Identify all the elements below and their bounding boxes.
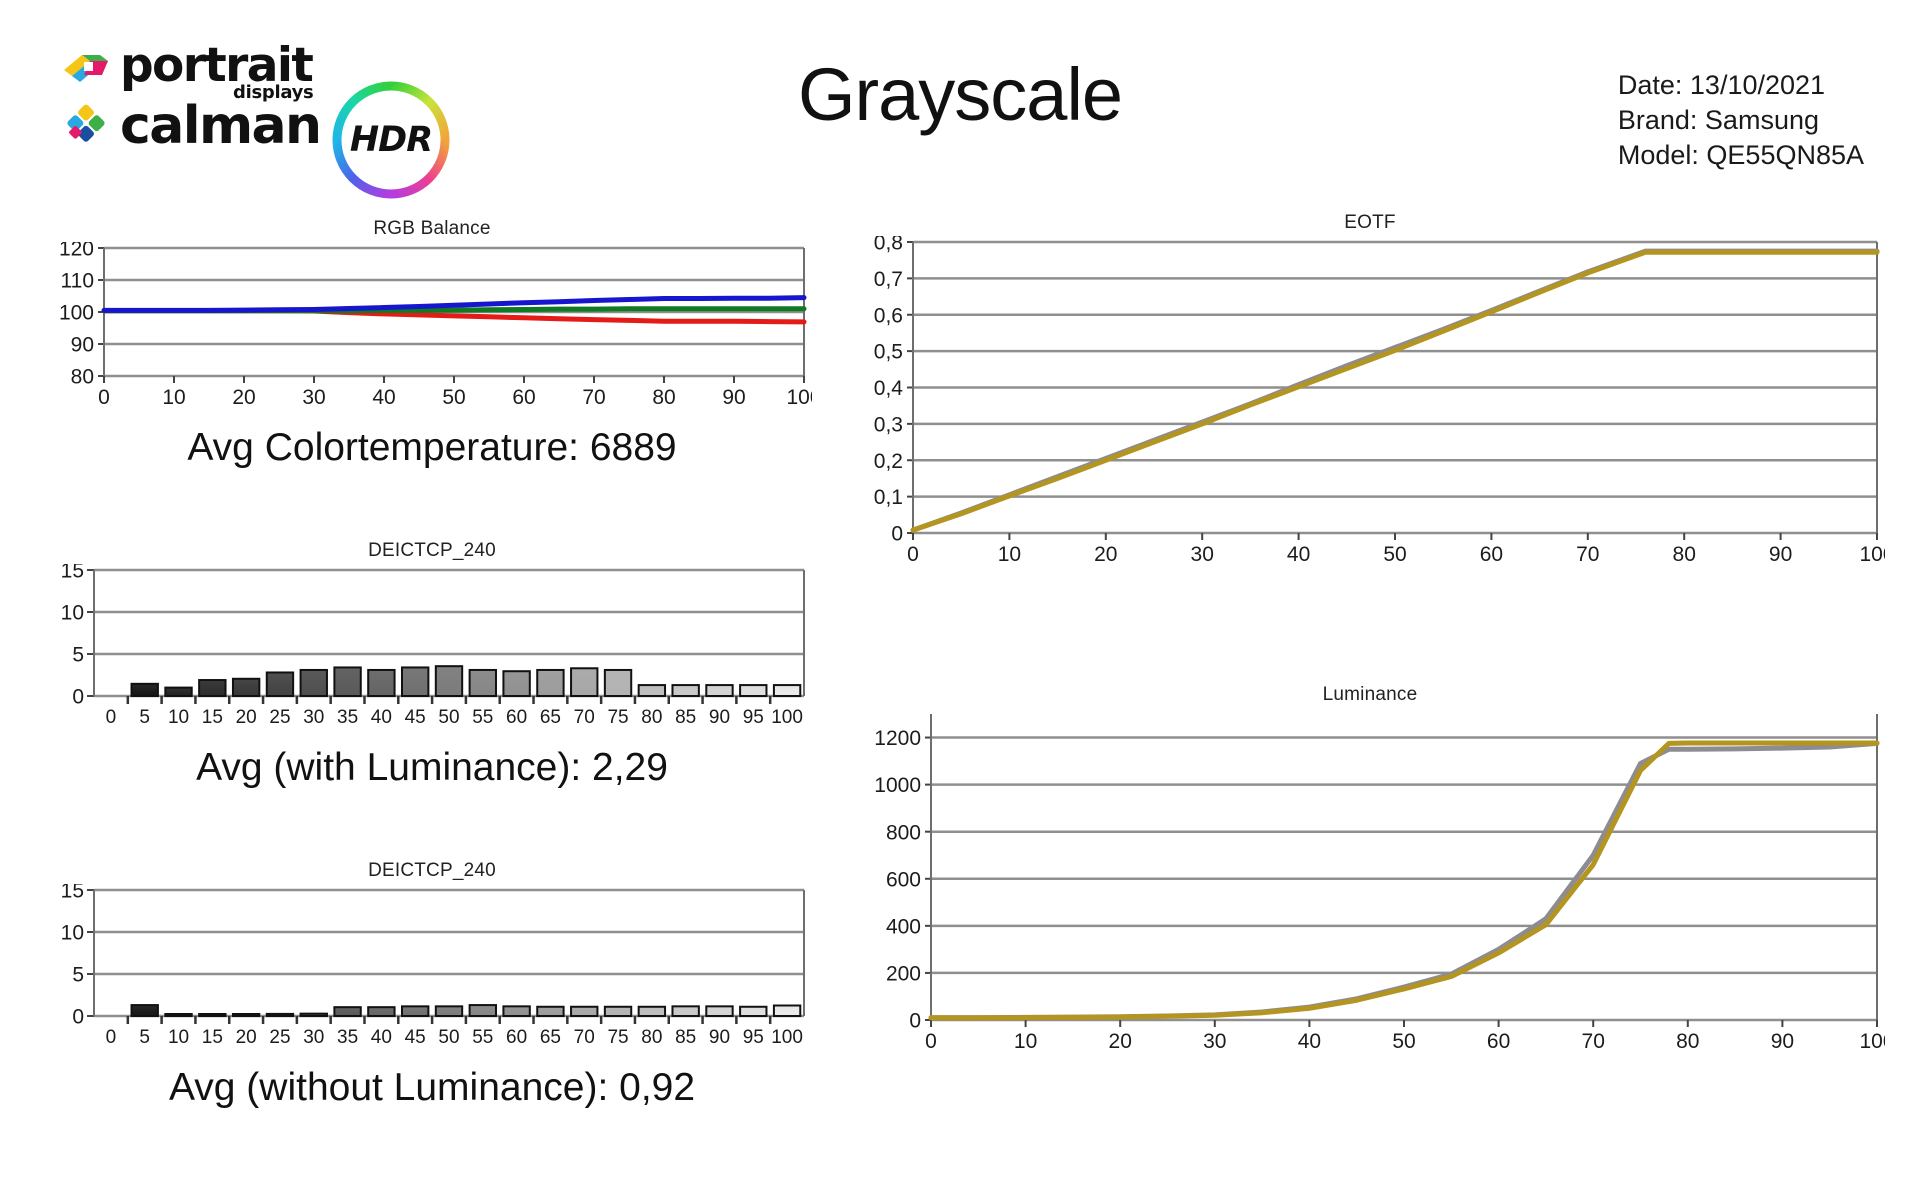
svg-text:0,3: 0,3 bbox=[874, 413, 903, 436]
svg-text:110: 110 bbox=[61, 270, 94, 293]
svg-text:100: 100 bbox=[786, 386, 812, 409]
svg-text:65: 65 bbox=[540, 1027, 561, 1048]
svg-text:20: 20 bbox=[236, 707, 257, 728]
svg-text:0: 0 bbox=[909, 1010, 921, 1033]
svg-text:90: 90 bbox=[722, 386, 745, 409]
svg-text:10: 10 bbox=[162, 386, 185, 409]
svg-text:30: 30 bbox=[303, 1027, 324, 1048]
deictcp-without-luminance-panel: DEICTCP_240 0510150510152025303540455055… bbox=[52, 860, 812, 1110]
svg-text:100: 100 bbox=[771, 1027, 803, 1048]
svg-text:100: 100 bbox=[59, 302, 94, 325]
svg-text:0,7: 0,7 bbox=[874, 268, 903, 291]
svg-text:15: 15 bbox=[61, 884, 84, 903]
svg-text:800: 800 bbox=[886, 821, 921, 844]
svg-text:45: 45 bbox=[405, 1027, 426, 1048]
svg-text:50: 50 bbox=[1392, 1030, 1415, 1053]
svg-text:50: 50 bbox=[438, 1027, 459, 1048]
svg-text:20: 20 bbox=[1094, 543, 1117, 566]
report-metadata: Date: 13/10/2021 Brand: Samsung Model: Q… bbox=[1618, 68, 1864, 173]
svg-text:15: 15 bbox=[202, 707, 223, 728]
eotf-chart: 00,10,20,30,40,50,60,70,8010203040506070… bbox=[855, 236, 1885, 571]
meta-model: Model: QE55QN85A bbox=[1618, 138, 1864, 173]
meta-date: Date: 13/10/2021 bbox=[1618, 68, 1864, 103]
eotf-title: EOTF bbox=[855, 212, 1885, 234]
svg-text:75: 75 bbox=[607, 707, 628, 728]
deictcp-with-luminance-chart: 0510150510152025303540455055606570758085… bbox=[52, 564, 812, 732]
svg-text:15: 15 bbox=[61, 564, 84, 583]
svg-text:90: 90 bbox=[1771, 1030, 1794, 1053]
svg-text:30: 30 bbox=[303, 707, 324, 728]
meta-brand: Brand: Samsung bbox=[1618, 103, 1864, 138]
svg-text:80: 80 bbox=[1676, 1030, 1699, 1053]
svg-text:40: 40 bbox=[372, 386, 395, 409]
svg-text:200: 200 bbox=[886, 962, 921, 985]
svg-text:50: 50 bbox=[438, 707, 459, 728]
svg-text:0,6: 0,6 bbox=[874, 304, 903, 327]
svg-text:0: 0 bbox=[72, 1006, 84, 1029]
svg-text:55: 55 bbox=[472, 1027, 493, 1048]
svg-text:45: 45 bbox=[405, 707, 426, 728]
svg-text:1000: 1000 bbox=[874, 774, 921, 797]
svg-text:0: 0 bbox=[106, 1027, 117, 1048]
svg-text:0: 0 bbox=[891, 523, 903, 546]
svg-text:75: 75 bbox=[607, 1027, 628, 1048]
svg-text:90: 90 bbox=[71, 334, 94, 357]
rgb-balance-chart: 80901001101200102030405060708090100 bbox=[52, 242, 812, 410]
svg-text:85: 85 bbox=[675, 707, 696, 728]
svg-text:5: 5 bbox=[72, 644, 84, 667]
svg-text:400: 400 bbox=[886, 915, 921, 938]
svg-text:80: 80 bbox=[71, 366, 94, 389]
svg-text:10: 10 bbox=[61, 922, 84, 945]
svg-text:60: 60 bbox=[1487, 1030, 1510, 1053]
svg-text:25: 25 bbox=[269, 1027, 290, 1048]
svg-text:90: 90 bbox=[709, 1027, 730, 1048]
svg-text:70: 70 bbox=[582, 386, 605, 409]
svg-text:60: 60 bbox=[512, 386, 535, 409]
svg-text:55: 55 bbox=[472, 707, 493, 728]
svg-text:70: 70 bbox=[1582, 1030, 1605, 1053]
svg-text:95: 95 bbox=[743, 1027, 764, 1048]
svg-text:60: 60 bbox=[1480, 543, 1503, 566]
svg-text:65: 65 bbox=[540, 707, 561, 728]
svg-text:0: 0 bbox=[106, 707, 117, 728]
deictcp-with-luminance-panel: DEICTCP_240 0510150510152025303540455055… bbox=[52, 540, 812, 790]
rgb-balance-title: RGB Balance bbox=[52, 218, 812, 240]
svg-text:600: 600 bbox=[886, 868, 921, 891]
svg-text:0,4: 0,4 bbox=[874, 377, 904, 400]
svg-text:40: 40 bbox=[371, 707, 392, 728]
svg-text:70: 70 bbox=[574, 707, 595, 728]
rgb-balance-panel: RGB Balance 8090100110120010203040506070… bbox=[52, 218, 812, 470]
svg-text:0,2: 0,2 bbox=[874, 450, 903, 473]
svg-text:50: 50 bbox=[442, 386, 465, 409]
svg-text:0: 0 bbox=[907, 543, 919, 566]
svg-text:120: 120 bbox=[59, 242, 94, 261]
svg-text:0: 0 bbox=[925, 1030, 937, 1053]
svg-text:85: 85 bbox=[675, 1027, 696, 1048]
svg-text:90: 90 bbox=[1769, 543, 1792, 566]
svg-text:35: 35 bbox=[337, 1027, 358, 1048]
svg-text:80: 80 bbox=[652, 386, 675, 409]
svg-text:35: 35 bbox=[337, 707, 358, 728]
svg-text:90: 90 bbox=[709, 707, 730, 728]
svg-text:5: 5 bbox=[139, 1027, 150, 1048]
svg-text:80: 80 bbox=[641, 1027, 662, 1048]
svg-text:100: 100 bbox=[771, 707, 803, 728]
svg-text:70: 70 bbox=[574, 1027, 595, 1048]
svg-text:60: 60 bbox=[506, 707, 527, 728]
svg-text:10: 10 bbox=[168, 707, 189, 728]
svg-text:0,8: 0,8 bbox=[874, 236, 903, 255]
avg-without-luminance-caption: Avg (without Luminance): 0,92 bbox=[52, 1066, 812, 1110]
svg-text:70: 70 bbox=[1576, 543, 1599, 566]
avg-with-luminance-caption: Avg (with Luminance): 2,29 bbox=[52, 746, 812, 790]
svg-text:80: 80 bbox=[641, 707, 662, 728]
svg-text:10: 10 bbox=[61, 602, 84, 625]
svg-text:40: 40 bbox=[371, 1027, 392, 1048]
svg-text:10: 10 bbox=[1014, 1030, 1037, 1053]
svg-text:1200: 1200 bbox=[874, 727, 921, 750]
svg-text:25: 25 bbox=[269, 707, 290, 728]
luminance-panel: Luminance 020040060080010001200010203040… bbox=[855, 684, 1885, 1058]
svg-text:95: 95 bbox=[743, 707, 764, 728]
report-page: portrait displays calman bbox=[0, 0, 1920, 1200]
deictcp-without-luminance-title: DEICTCP_240 bbox=[52, 860, 812, 882]
svg-text:20: 20 bbox=[1109, 1030, 1132, 1053]
svg-text:30: 30 bbox=[1191, 543, 1214, 566]
svg-text:20: 20 bbox=[232, 386, 255, 409]
svg-text:50: 50 bbox=[1383, 543, 1406, 566]
svg-text:30: 30 bbox=[1203, 1030, 1226, 1053]
svg-text:10: 10 bbox=[168, 1027, 189, 1048]
svg-text:100: 100 bbox=[1859, 1030, 1885, 1053]
luminance-title: Luminance bbox=[855, 684, 1885, 706]
svg-text:100: 100 bbox=[1859, 543, 1885, 566]
svg-text:30: 30 bbox=[302, 386, 325, 409]
svg-text:0: 0 bbox=[98, 386, 110, 409]
svg-text:5: 5 bbox=[72, 964, 84, 987]
svg-text:40: 40 bbox=[1298, 1030, 1321, 1053]
deictcp-without-luminance-chart: 0510150510152025303540455055606570758085… bbox=[52, 884, 812, 1052]
svg-text:5: 5 bbox=[139, 707, 150, 728]
svg-text:40: 40 bbox=[1287, 543, 1310, 566]
avg-colortemperature-caption: Avg Colortemperature: 6889 bbox=[52, 426, 812, 470]
eotf-panel: EOTF 00,10,20,30,40,50,60,70,80102030405… bbox=[855, 212, 1885, 571]
svg-text:80: 80 bbox=[1673, 543, 1696, 566]
deictcp-with-luminance-title: DEICTCP_240 bbox=[52, 540, 812, 562]
svg-text:0: 0 bbox=[72, 686, 84, 709]
svg-text:0,5: 0,5 bbox=[874, 341, 903, 364]
svg-text:10: 10 bbox=[998, 543, 1021, 566]
svg-text:60: 60 bbox=[506, 1027, 527, 1048]
luminance-chart: 0200400600800100012000102030405060708090… bbox=[855, 708, 1885, 1058]
svg-text:0,1: 0,1 bbox=[874, 486, 903, 509]
svg-text:20: 20 bbox=[236, 1027, 257, 1048]
svg-text:15: 15 bbox=[202, 1027, 223, 1048]
